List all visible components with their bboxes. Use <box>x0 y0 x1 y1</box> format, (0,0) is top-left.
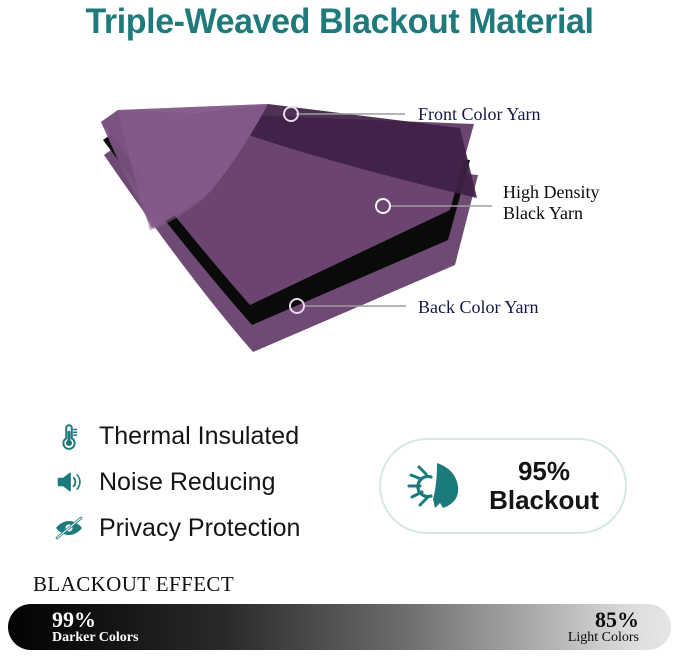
label-high-density-black-yarn: High Density Black Yarn <box>503 182 600 224</box>
feature-privacy-protection: Privacy Protection <box>52 505 362 551</box>
badge-percent: 95% <box>489 457 599 486</box>
label-back-color-yarn: Back Color Yarn <box>418 297 539 318</box>
fabric-illustration <box>0 80 679 380</box>
badge-text: 95% Blackout <box>489 457 599 515</box>
fabric-layers-diagram <box>0 80 679 380</box>
thermometer-icon <box>52 419 86 453</box>
feature-label: Thermal Insulated <box>99 422 299 451</box>
feature-thermal-insulated: Thermal Insulated <box>52 413 362 459</box>
label-front-color-yarn: Front Color Yarn <box>418 104 541 125</box>
label-high-density-line1: High Density <box>503 182 600 203</box>
feature-list: Thermal Insulated Noise Reducing Privacy… <box>52 413 362 551</box>
blackout-effect-light-end: 85% Light Colors <box>568 608 639 646</box>
sun-blocked-icon <box>407 455 473 517</box>
blackout-effect-gradient-bar: 99% Darker Colors 85% Light Colors <box>8 604 671 650</box>
light-percent: 85% <box>568 608 639 631</box>
blackout-effect-dark-end: 99% Darker Colors <box>52 608 138 646</box>
speaker-icon <box>52 465 86 499</box>
feature-noise-reducing: Noise Reducing <box>52 459 362 505</box>
label-high-density-line2: Black Yarn <box>503 203 600 224</box>
badge-caption: Blackout <box>489 486 599 515</box>
blackout-badge: 95% Blackout <box>379 438 627 534</box>
dark-caption: Darker Colors <box>52 631 138 646</box>
eye-slash-icon <box>52 511 86 545</box>
blackout-effect-title: BLACKOUT EFFECT <box>33 572 234 597</box>
page-title: Triple-Weaved Blackout Material <box>10 2 669 42</box>
feature-label: Noise Reducing <box>99 468 276 497</box>
dark-percent: 99% <box>52 608 138 631</box>
feature-label: Privacy Protection <box>99 514 300 543</box>
light-caption: Light Colors <box>568 631 639 646</box>
